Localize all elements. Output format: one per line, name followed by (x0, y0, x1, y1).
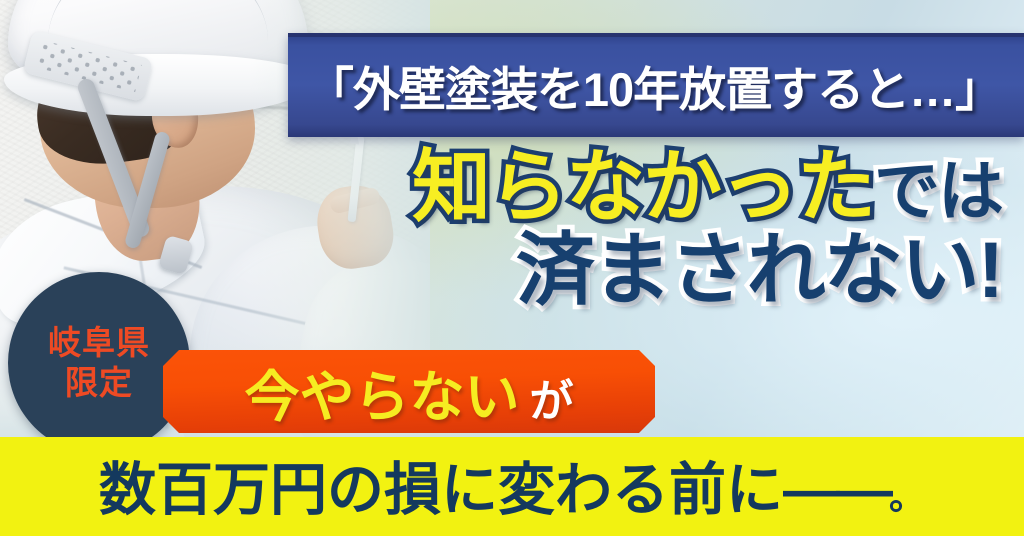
prefecture-limited-badge: 岐阜県 限定 (8, 272, 190, 454)
bottom-band-text-wrap: 数百万円の損に変わる前に——。 (99, 444, 925, 526)
headline-line2-text: 済まされない! (516, 225, 1002, 314)
bottom-yellow-band: 数百万円の損に変わる前に——。 (0, 437, 1024, 536)
badge-line-2: 限定 (65, 363, 133, 403)
headline-line1-tail: では (874, 154, 1002, 228)
top-band-headline: 「外壁塗装を10年放置すると…」 (288, 33, 1024, 137)
orange-callout-main: 今やらない (244, 352, 519, 432)
bottom-band-dash: —— (783, 458, 889, 522)
orange-callout-band: 今やらない が (163, 350, 655, 433)
top-blue-band: 「外壁塗装を10年放置すると…」 (288, 33, 1024, 137)
bottom-band-period: 。 (889, 476, 925, 517)
orange-callout-inner: 今やらない が (244, 352, 573, 432)
bottom-band-text: 数百万円の損に変わる前に (99, 458, 783, 522)
badge-line-1: 岐阜県 (48, 323, 150, 363)
headline-highlight-text: 知らなかった (412, 142, 874, 231)
main-headline: 知らなかったでは 済まされない! (0, 148, 1024, 309)
promo-banner: 「外壁塗装を10年放置すると…」 知らなかったでは 済まされない! 岐阜県 限定… (0, 0, 1024, 536)
headline-line-1: 知らなかったでは (0, 148, 1002, 225)
orange-callout-tail: が (530, 365, 574, 429)
